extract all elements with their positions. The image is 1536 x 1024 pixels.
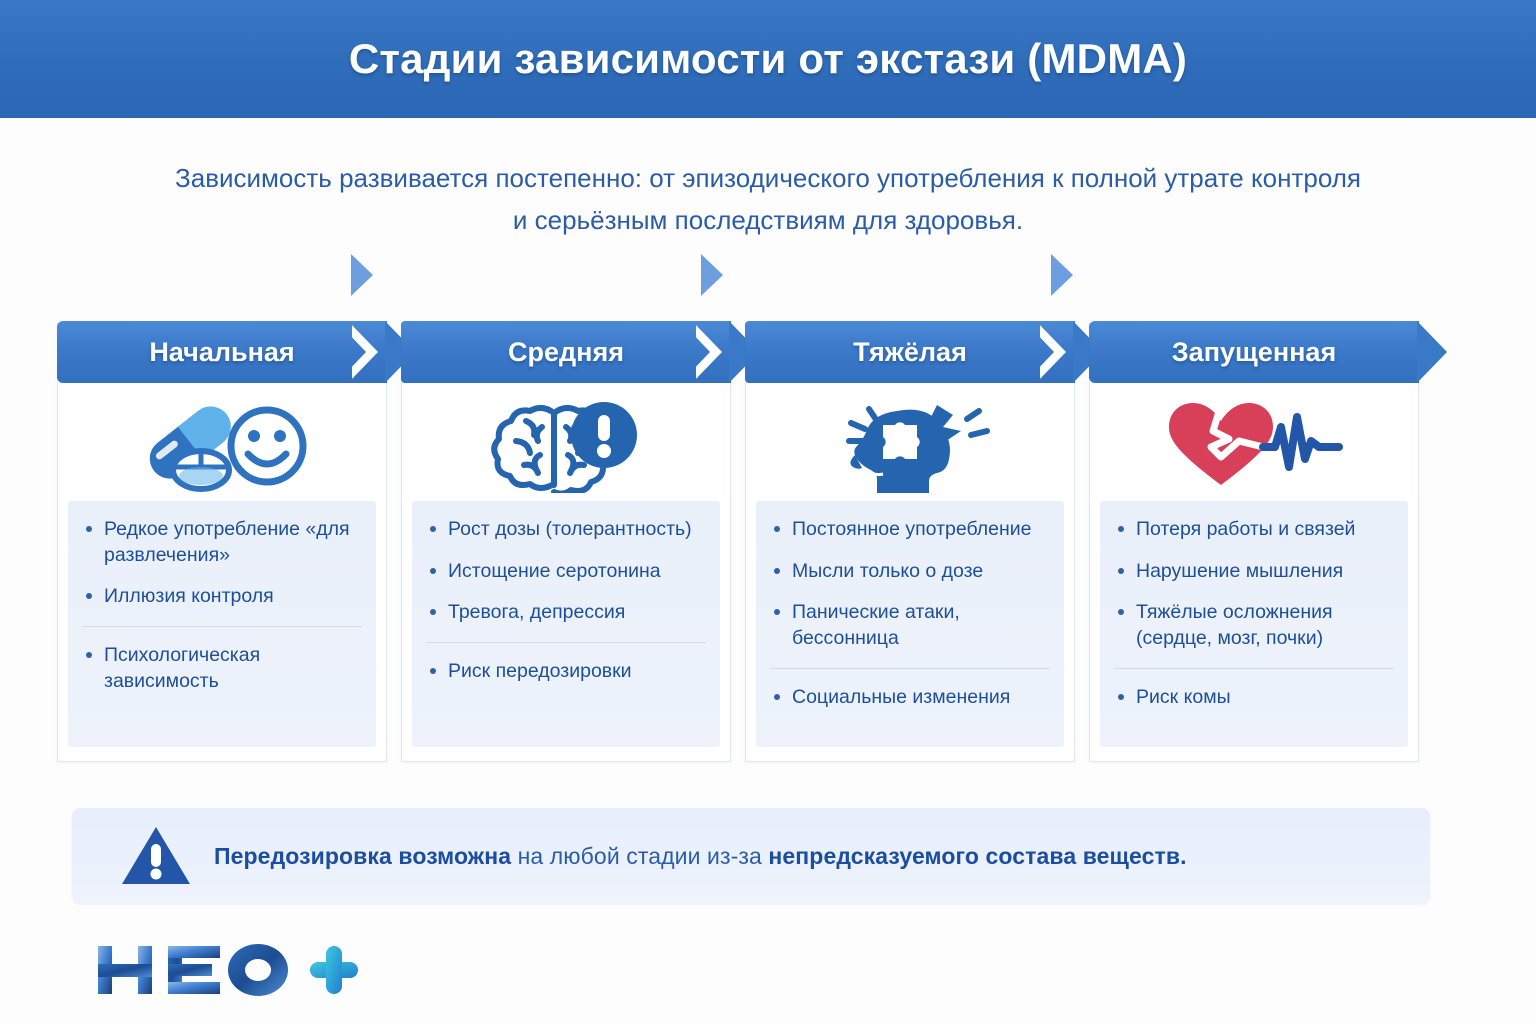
list-item: Потеря работы и связей — [1114, 517, 1394, 543]
puzzle-piece-cutout — [883, 422, 920, 459]
heart-icon — [1169, 403, 1273, 485]
ecg-line-icon — [1263, 417, 1339, 467]
list-item: Мысли только о дозе — [770, 559, 1050, 585]
list-item: Редкое употребление «для развлечения» — [82, 517, 362, 568]
warning-bold-start: Передозировка возможна — [214, 843, 511, 869]
stage-card-medium[interactable]: Средняя — [401, 322, 731, 762]
stage-bullets-severe: Постоянное употребление Мысли только о д… — [756, 501, 1064, 747]
stage-bullets-advanced: Потеря работы и связей Нарушение мышлени… — [1100, 501, 1408, 747]
list-item: Социальные изменения — [770, 668, 1050, 711]
chevron-notch — [352, 321, 388, 383]
stage-label: Тяжёлая — [853, 337, 967, 368]
stage-label: Начальная — [149, 337, 294, 368]
stage-icon-initial — [58, 383, 386, 501]
head-puzzle-lightning-icon — [825, 397, 995, 493]
list-item: Панические атаки, бессонница — [770, 600, 1050, 651]
stage-label: Запущенная — [1172, 337, 1336, 368]
smiley-icon — [231, 410, 303, 482]
stage-icon-medium — [402, 383, 730, 501]
neo-plus-logo[interactable] — [92, 938, 362, 1002]
chevron-notch — [1040, 321, 1076, 383]
stage-header-medium: Средняя — [401, 321, 731, 383]
warning-text: Передозировка возможна на любой стадии и… — [214, 843, 1187, 870]
stage-card-initial[interactable]: Начальная — [57, 322, 387, 762]
warning-bold-end: непредсказуемого состава веществ. — [768, 843, 1186, 869]
brain-alert-icon — [486, 397, 646, 493]
subtitle-text: Зависимость развивается постепенно: от э… — [168, 158, 1368, 241]
list-item: Риск комы — [1114, 668, 1394, 711]
logo-plus-icon — [310, 946, 358, 994]
stage-connector-arrow-3 — [1049, 252, 1075, 298]
stage-header-advanced: Запущенная — [1089, 321, 1419, 383]
stage-connector-arrow-2 — [699, 252, 725, 298]
warning-triangle-icon — [120, 824, 192, 888]
list-item: Нарушение мышления — [1114, 559, 1394, 585]
stage-icon-advanced — [1090, 383, 1418, 501]
alert-badge-icon — [571, 402, 637, 468]
warning-banner: Передозировка возможна на любой стадии и… — [72, 808, 1430, 904]
infographic-page: Стадии зависимости от экстази (MDMA) Зав… — [0, 0, 1536, 1024]
stage-bullets-medium: Рост дозы (толерантность) Истощение серо… — [412, 501, 720, 747]
title-bar: Стадии зависимости от экстази (MDMA) — [0, 0, 1536, 118]
stage-header-severe: Тяжёлая — [745, 321, 1075, 383]
page-title: Стадии зависимости от экстази (MDMA) — [349, 35, 1187, 83]
broken-heart-ecg-icon — [1159, 397, 1349, 493]
tablet-icon — [173, 451, 229, 489]
stage-header-initial: Начальная — [57, 321, 387, 383]
stage-card-advanced[interactable]: Запущенная Потеря работ — [1089, 322, 1419, 762]
list-item: Риск передозировки — [426, 642, 706, 685]
list-item: Постоянное употребление — [770, 517, 1050, 543]
list-item: Психологическая зависимость — [82, 626, 362, 694]
list-item: Истощение серотонина — [426, 559, 706, 585]
list-item: Тревога, депрессия — [426, 600, 706, 626]
list-item: Иллюзия контроля — [82, 584, 362, 610]
chevron-notch — [696, 321, 732, 383]
stage-list: Начальная — [57, 322, 1419, 762]
logo-letter-n — [98, 946, 152, 994]
list-item: Тяжёлые осложнения (сердце, мозг, почки) — [1114, 600, 1394, 651]
stage-bullets-initial: Редкое употребление «для развлечения» Ил… — [68, 501, 376, 747]
stage-icon-severe — [746, 383, 1074, 501]
logo-letter-o — [228, 944, 288, 996]
warning-regular-middle: на любой стадии из-за — [511, 843, 768, 869]
chevron-right-icon — [1417, 321, 1453, 383]
stage-label: Средняя — [508, 337, 624, 368]
logo-letter-e — [168, 946, 220, 994]
pills-smiley-icon — [127, 397, 317, 493]
stage-connector-arrow-1 — [349, 252, 375, 298]
list-item: Рост дозы (толерантность) — [426, 517, 706, 543]
stage-card-severe[interactable]: Тяжёлая — [745, 322, 1075, 762]
